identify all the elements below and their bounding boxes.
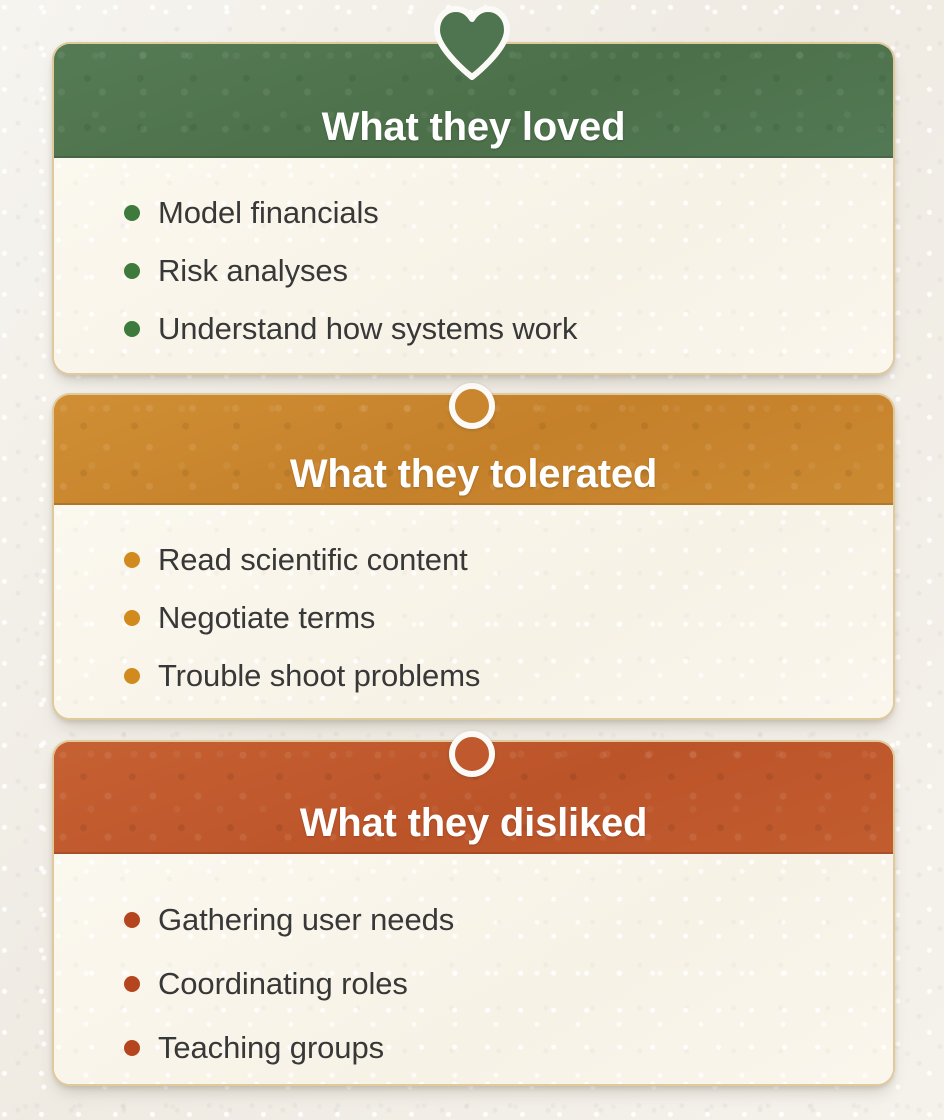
list-item-label: Trouble shoot problems: [158, 659, 480, 693]
card-tolerated-body: Read scientific content Negotiate terms …: [54, 505, 893, 718]
list-item[interactable]: Teaching groups: [124, 1016, 893, 1080]
list-item-label: Gathering user needs: [158, 903, 454, 937]
card-tolerated[interactable]: What they tolerated Read scientific cont…: [52, 393, 895, 720]
list-item[interactable]: Trouble shoot problems: [124, 647, 893, 705]
list-item[interactable]: Gathering user needs: [124, 888, 893, 952]
list-item[interactable]: Coordinating roles: [124, 952, 893, 1016]
bullet-dot-icon: [124, 1040, 140, 1056]
list-item[interactable]: Model financials: [124, 184, 893, 242]
list-item[interactable]: Risk analyses: [124, 242, 893, 300]
list-item[interactable]: Understand how systems work: [124, 300, 893, 358]
card-disliked-title: What they disliked: [300, 802, 648, 844]
heart-icon: [432, 6, 512, 80]
list-item[interactable]: Negotiate terms: [124, 589, 893, 647]
card-loved[interactable]: What they loved Model financials Risk an…: [52, 42, 895, 375]
circle-icon-ring: [449, 383, 495, 429]
circle-icon-ring: [449, 731, 495, 777]
bullet-dot-icon: [124, 321, 140, 337]
bullet-dot-icon: [124, 610, 140, 626]
bullet-dot-icon: [124, 263, 140, 279]
card-loved-title: What they loved: [322, 106, 626, 148]
list-item-label: Risk analyses: [158, 254, 348, 288]
bullet-dot-icon: [124, 205, 140, 221]
list-item-label: Read scientific content: [158, 543, 468, 577]
card-disliked-list: Gathering user needs Coordinating roles …: [54, 888, 893, 1080]
card-disliked[interactable]: What they disliked Gathering user needs …: [52, 740, 895, 1086]
circle-icon: [449, 731, 495, 777]
bullet-dot-icon: [124, 668, 140, 684]
card-loved-list: Model financials Risk analyses Understan…: [54, 184, 893, 358]
bullet-dot-icon: [124, 976, 140, 992]
list-item-label: Negotiate terms: [158, 601, 375, 635]
list-item-label: Understand how systems work: [158, 312, 577, 346]
list-item[interactable]: Read scientific content: [124, 531, 893, 589]
card-tolerated-title: What they tolerated: [290, 453, 657, 495]
list-item-label: Coordinating roles: [158, 967, 408, 1001]
card-loved-body: Model financials Risk analyses Understan…: [54, 158, 893, 373]
circle-icon: [449, 383, 495, 429]
card-stack: What they loved Model financials Risk an…: [0, 0, 944, 1120]
bullet-dot-icon: [124, 912, 140, 928]
card-disliked-body: Gathering user needs Coordinating roles …: [54, 854, 893, 1084]
list-item-label: Model financials: [158, 196, 379, 230]
bullet-dot-icon: [124, 552, 140, 568]
card-tolerated-list: Read scientific content Negotiate terms …: [54, 531, 893, 705]
list-item-label: Teaching groups: [158, 1031, 384, 1065]
